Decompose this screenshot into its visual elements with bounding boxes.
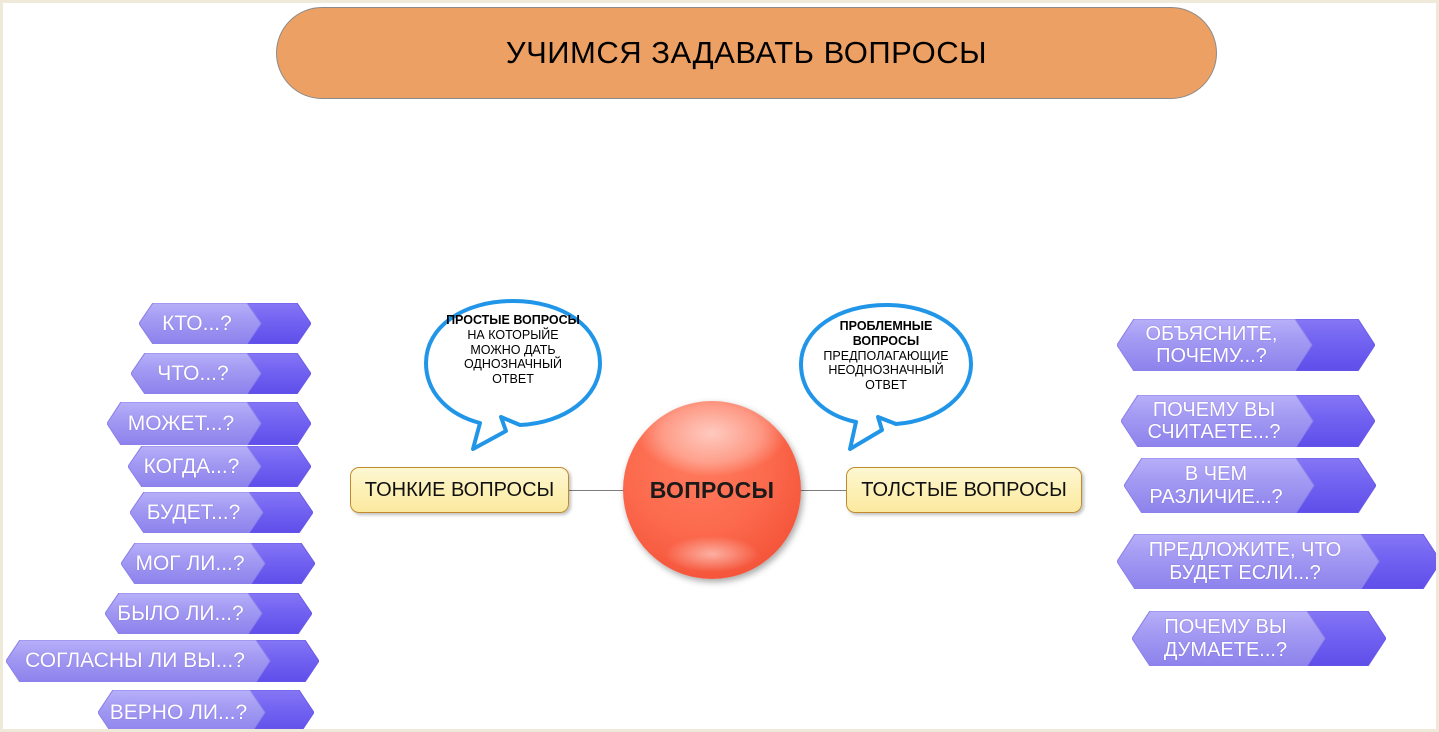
chevron-label: ПОЧЕМУ ВЫ ДУМАЕТЕ...? — [1160, 616, 1358, 661]
chevron-right-2[interactable]: ПОЧЕМУ ВЫ СЧИТАЕТЕ...? — [1121, 395, 1375, 447]
chevron-label: СОГЛАСНЫ ЛИ ВЫ...? — [21, 650, 304, 672]
chevron-left-7[interactable]: БЫЛО ЛИ...? — [105, 593, 312, 634]
chevron-left-9[interactable]: ВЕРНО ЛИ...? — [98, 690, 314, 732]
speech-bubble-left-rest: НА КОТОРЫЙЕ МОЖНО ДАТЬ ОДНОЗНАЧНЫЙ ОТВЕТ — [464, 328, 562, 386]
chevron-label: В ЧЕМ РАЗЛИЧИЕ...? — [1145, 463, 1354, 508]
chevron-label: МОЖЕТ...? — [124, 413, 294, 435]
slide-title-banner: УЧИМСЯ ЗАДАВАТЬ ВОПРОСЫ — [276, 7, 1217, 99]
slide-canvas: УЧИМСЯ ЗАДАВАТЬ ВОПРОСЫ ВОПРОСЫ ТОНКИЕ В… — [0, 0, 1439, 732]
category-box-thick-questions[interactable]: ТОЛСТЫЕ ВОПРОСЫ — [846, 467, 1082, 513]
category-box-thick-label: ТОЛСТЫЕ ВОПРОСЫ — [861, 479, 1067, 502]
chevron-label: ПОЧЕМУ ВЫ СЧИТАЕТЕ...? — [1143, 399, 1352, 444]
chevron-label: БУДЕТ...? — [143, 502, 301, 524]
speech-bubble-right-rest: ПРЕДПОЛАГАЮЩИЕ НЕОДНОЗНАЧНЫЙ ОТВЕТ — [823, 349, 948, 393]
speech-bubble-left-bold: ПРОСТЫЕ ВОПРОСЫ — [446, 313, 580, 327]
chevron-right-1[interactable]: ОБЪЯСНИТЕ, ПОЧЕМУ...? — [1117, 319, 1375, 371]
chevron-label: ПРЕДЛОЖИТЕ, ЧТО БУДЕТ ЕСЛИ...? — [1145, 539, 1414, 584]
speech-bubble-problem-questions: ПРОБЛЕМНЫЕ ВОПРОСЫ ПРЕДПОЛАГАЮЩИЕ НЕОДНО… — [798, 303, 974, 441]
chevron-right-4[interactable]: ПРЕДЛОЖИТЕ, ЧТО БУДЕТ ЕСЛИ...? — [1117, 534, 1439, 589]
chevron-right-3[interactable]: В ЧЕМ РАЗЛИЧИЕ...? — [1124, 458, 1376, 513]
chevron-label: БЫЛО ЛИ...? — [113, 603, 303, 625]
chevron-label: ВЕРНО ЛИ...? — [106, 702, 306, 724]
speech-bubble-simple-questions: ПРОСТЫЕ ВОПРОСЫ НА КОТОРЫЙЕ МОЖНО ДАТЬ О… — [423, 299, 603, 444]
chevron-left-8[interactable]: СОГЛАСНЫ ЛИ ВЫ...? — [6, 640, 319, 682]
chevron-left-5[interactable]: БУДЕТ...? — [130, 492, 313, 533]
category-box-thin-label: ТОНКИЕ ВОПРОСЫ — [365, 479, 554, 502]
page-title: УЧИМСЯ ЗАДАВАТЬ ВОПРОСЫ — [506, 35, 987, 71]
chevron-label: ЧТО...? — [153, 363, 288, 385]
chevron-label: ОБЪЯСНИТЕ, ПОЧЕМУ...? — [1141, 323, 1350, 368]
central-sphere-label: ВОПРОСЫ — [650, 477, 775, 504]
chevron-left-2[interactable]: ЧТО...? — [131, 353, 311, 394]
chevron-label: КТО...? — [158, 313, 292, 335]
chevron-label: МОГ ЛИ...? — [131, 553, 304, 575]
central-sphere-questions: ВОПРОСЫ — [623, 401, 801, 579]
chevron-left-4[interactable]: КОГДА...? — [128, 446, 311, 487]
speech-bubble-right-text: ПРОБЛЕМНЫЕ ВОПРОСЫ ПРЕДПОЛАГАЮЩИЕ НЕОДНО… — [816, 319, 956, 393]
speech-bubble-left-text: ПРОСТЫЕ ВОПРОСЫ НА КОТОРЫЙЕ МОЖНО ДАТЬ О… — [443, 313, 583, 387]
chevron-left-3[interactable]: МОЖЕТ...? — [107, 402, 311, 445]
category-box-thin-questions[interactable]: ТОНКИЕ ВОПРОСЫ — [350, 467, 569, 513]
speech-bubble-right-bold: ПРОБЛЕМНЫЕ ВОПРОСЫ — [840, 319, 933, 348]
chevron-left-6[interactable]: МОГ ЛИ...? — [121, 543, 315, 584]
chevron-left-1[interactable]: КТО...? — [139, 303, 311, 344]
chevron-label: КОГДА...? — [140, 456, 300, 478]
chevron-right-5[interactable]: ПОЧЕМУ ВЫ ДУМАЕТЕ...? — [1132, 611, 1386, 666]
